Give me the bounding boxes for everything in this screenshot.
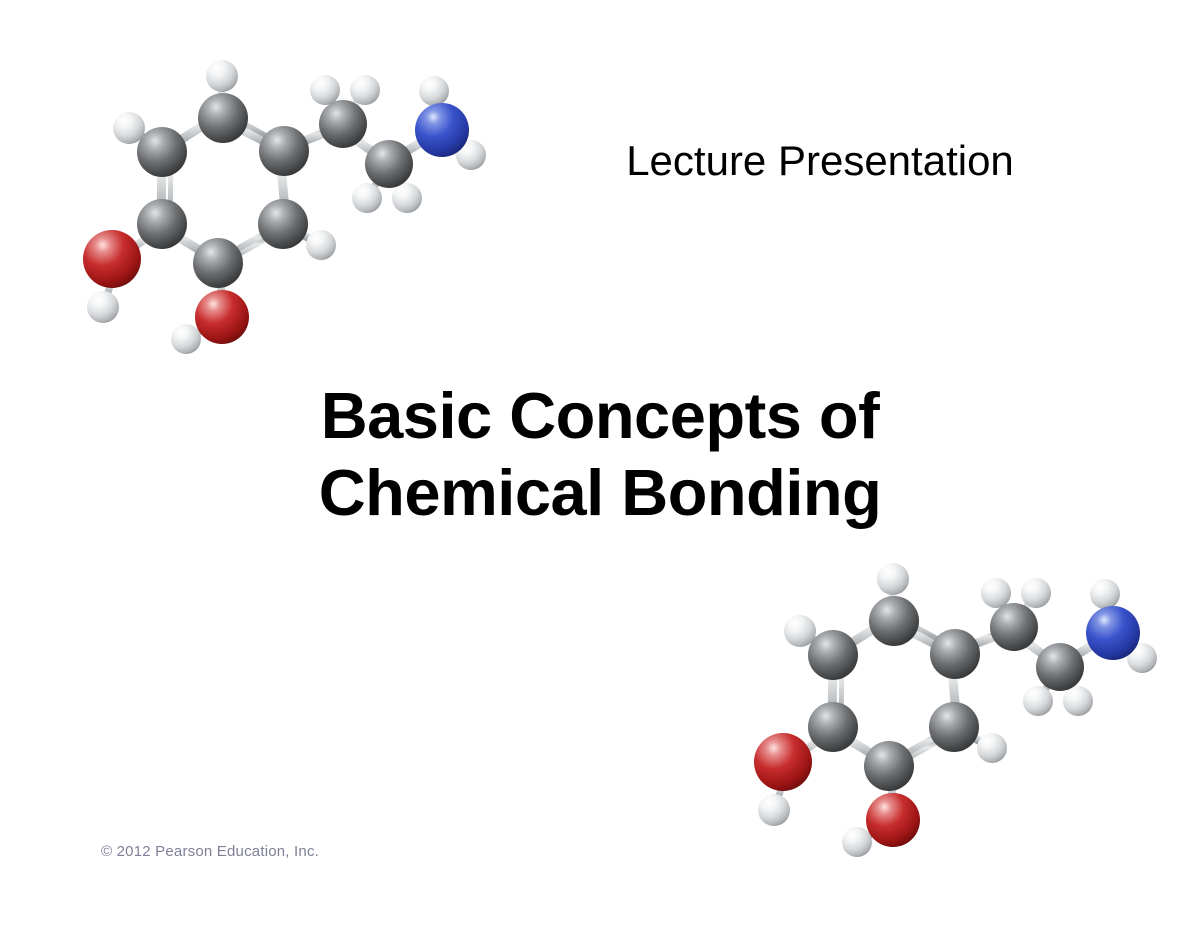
hydrogen-atom (87, 291, 119, 323)
carbon-atom (193, 238, 243, 288)
carbon-atom (930, 629, 980, 679)
hydrogen-atom (877, 563, 909, 595)
hydrogen-atom (352, 183, 382, 213)
lecture-presentation-subtitle: Lecture Presentation (560, 138, 1080, 184)
nitrogen-atom (1086, 606, 1140, 660)
molecule-svg (62, 45, 492, 360)
carbon-atom (808, 702, 858, 752)
oxygen-atom (83, 230, 141, 288)
oxygen-atom (754, 733, 812, 791)
hydrogen-atom (310, 75, 340, 105)
hydrogen-atom (419, 76, 449, 106)
carbon-atom (1036, 643, 1084, 691)
hydrogen-atom (206, 60, 238, 92)
hydrogen-atom (758, 794, 790, 826)
hydrogen-atom (981, 578, 1011, 608)
carbon-atom (259, 126, 309, 176)
hydrogen-atom (392, 183, 422, 213)
molecule-svg (733, 548, 1163, 863)
carbon-atom (869, 596, 919, 646)
hydrogen-atom (113, 112, 145, 144)
carbon-atom (990, 603, 1038, 651)
carbon-atom (929, 702, 979, 752)
copyright-notice: © 2012 Pearson Education, Inc. (101, 843, 319, 860)
page-title-line-1: Basic Concepts of (180, 378, 1020, 455)
dopamine-molecule-model-top-left (62, 45, 492, 360)
oxygen-atom (195, 290, 249, 344)
hydrogen-atom (977, 733, 1007, 763)
slide-canvas: Lecture Presentation Basic Concepts of C… (0, 0, 1200, 927)
hydrogen-atom (306, 230, 336, 260)
hydrogen-atom (784, 615, 816, 647)
nitrogen-atom (415, 103, 469, 157)
hydrogen-atom (350, 75, 380, 105)
oxygen-atom (866, 793, 920, 847)
carbon-atom (137, 199, 187, 249)
hydrogen-atom (1063, 686, 1093, 716)
page-title: Basic Concepts of Chemical Bonding (180, 378, 1020, 531)
hydrogen-atom (842, 827, 872, 857)
carbon-atom (198, 93, 248, 143)
carbon-atom (258, 199, 308, 249)
hydrogen-atom (1090, 579, 1120, 609)
page-title-line-2: Chemical Bonding (180, 455, 1020, 532)
carbon-atom (365, 140, 413, 188)
carbon-atom (808, 630, 858, 680)
hydrogen-atom (1021, 578, 1051, 608)
hydrogen-atom (171, 324, 201, 354)
carbon-atom (319, 100, 367, 148)
dopamine-molecule-model-bottom-right (733, 548, 1163, 863)
carbon-atom (864, 741, 914, 791)
carbon-atom (137, 127, 187, 177)
hydrogen-atom (1023, 686, 1053, 716)
